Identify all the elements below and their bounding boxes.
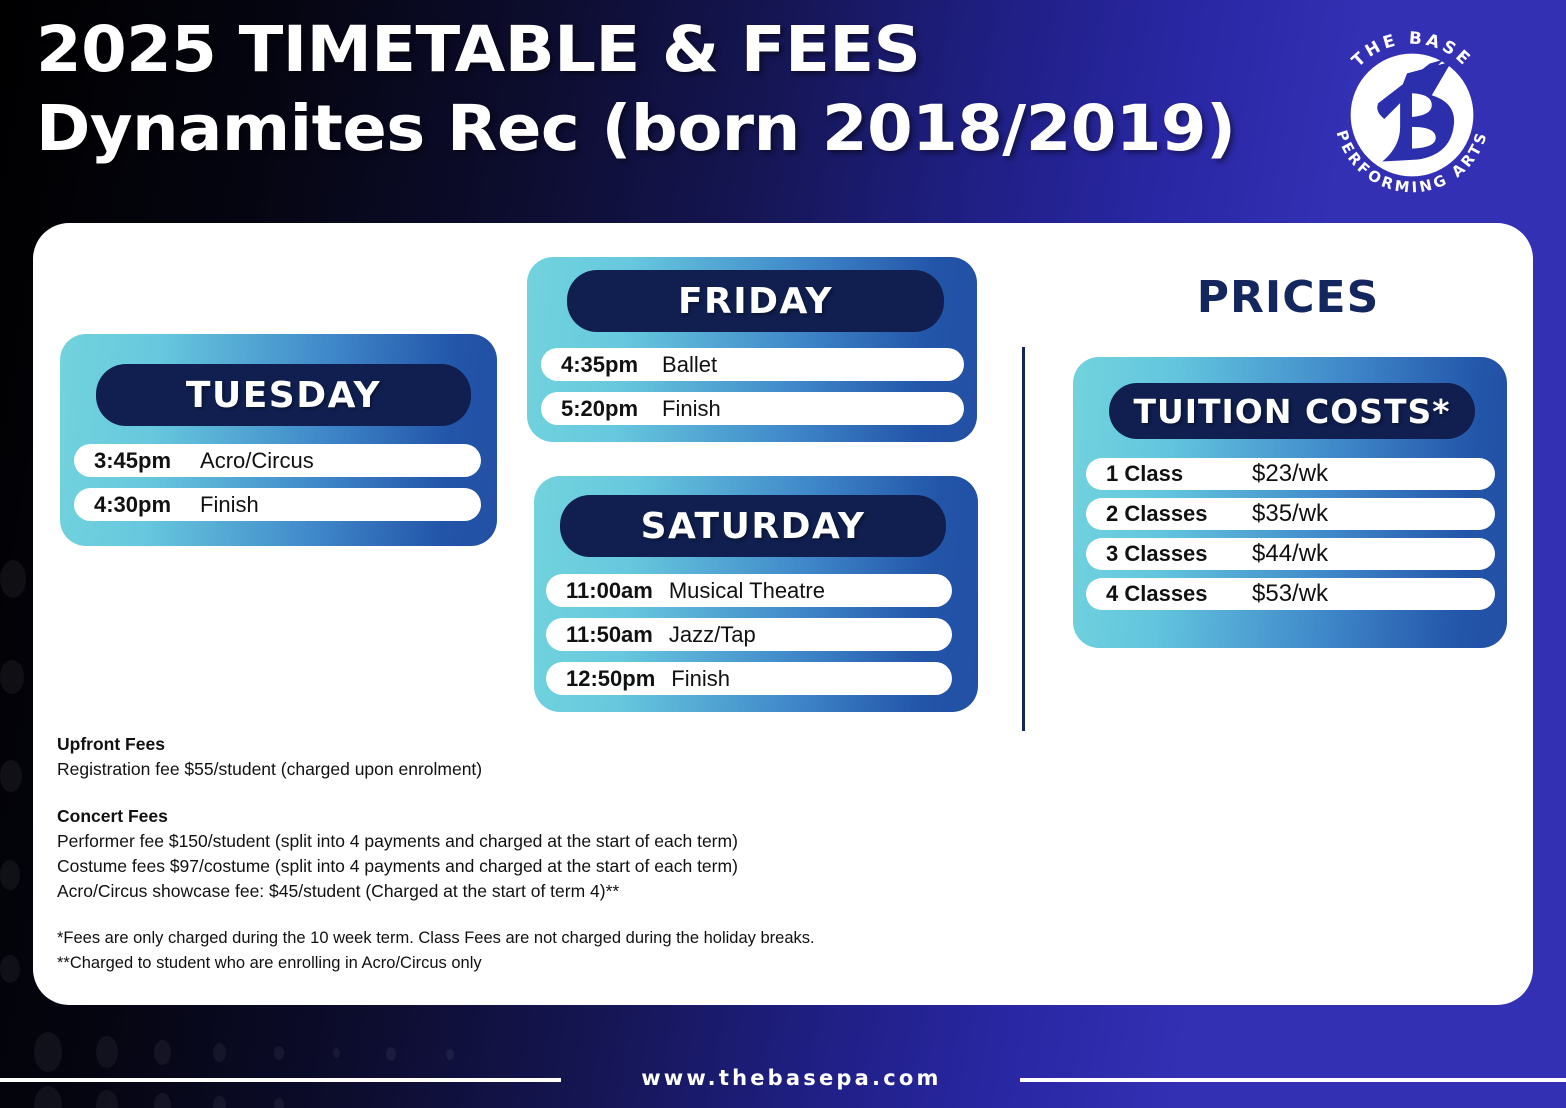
row-activity: Finish: [662, 396, 721, 422]
schedule-row: 4:30pm Finish: [74, 488, 481, 521]
tuition-price: $23/wk: [1252, 460, 1328, 488]
schedule-rows-tuesday: 3:45pm Acro/Circus 4:30pm Finish: [74, 444, 481, 521]
row-activity: Finish: [200, 492, 259, 518]
row-activity: Acro/Circus: [200, 448, 314, 474]
tuition-rows: 1 Class $23/wk 2 Classes $35/wk 3 Classe…: [1086, 458, 1495, 610]
row-activity: Ballet: [662, 352, 717, 378]
tuition-label: 4 Classes: [1106, 581, 1252, 607]
row-activity: Jazz/Tap: [669, 622, 756, 648]
schedule-rows-friday: 4:35pm Ballet 5:20pm Finish: [541, 348, 964, 425]
prices-section-title: PRICES: [1073, 272, 1503, 323]
row-time: 11:00am: [566, 578, 653, 604]
tuition-costs-card: TUITION COSTS* 1 Class $23/wk 2 Classes …: [1073, 357, 1507, 648]
row-time: 4:30pm: [94, 492, 171, 518]
footer-rule-left: [0, 1078, 561, 1082]
poster-header: 2025 TIMETABLE & FEES Dynamites Rec (bor…: [36, 18, 1436, 208]
brand-logo: THE BASE PERFORMING ARTS: [1313, 16, 1511, 214]
row-activity: Musical Theatre: [669, 578, 825, 604]
poster-footer: www.thebasepa.com: [0, 1016, 1566, 1108]
concert-fees-line-2: Costume fees $97/costume (split into 4 p…: [57, 854, 957, 879]
footnote-1: *Fees are only charged during the 10 wee…: [57, 926, 957, 951]
schedule-rows-saturday: 11:00am Musical Theatre 11:50am Jazz/Tap…: [546, 574, 952, 695]
section-divider: [1022, 347, 1025, 731]
tuition-label: 2 Classes: [1106, 501, 1252, 527]
day-card-friday: FRIDAY 4:35pm Ballet 5:20pm Finish: [527, 257, 977, 442]
tuition-costs-heading: TUITION COSTS*: [1109, 383, 1475, 439]
upfront-fees-heading: Upfront Fees: [57, 732, 957, 757]
tuition-row: 2 Classes $35/wk: [1086, 498, 1495, 530]
upfront-fees-line: Registration fee $55/student (charged up…: [57, 757, 957, 782]
row-time: 3:45pm: [94, 448, 171, 474]
row-time: 5:20pm: [561, 396, 638, 422]
tuition-label: 3 Classes: [1106, 541, 1252, 567]
page-title-line-2: Dynamites Rec (born 2018/2019): [36, 97, 1492, 160]
day-card-tuesday: TUESDAY 3:45pm Acro/Circus 4:30pm Finish: [60, 334, 497, 546]
tuition-label: 1 Class: [1106, 461, 1252, 487]
tuition-price: $35/wk: [1252, 500, 1328, 528]
concert-fees-line-1: Performer fee $150/student (split into 4…: [57, 829, 957, 854]
day-card-saturday: SATURDAY 11:00am Musical Theatre 11:50am…: [534, 476, 978, 712]
tuition-price: $44/wk: [1252, 540, 1328, 568]
schedule-row: 5:20pm Finish: [541, 392, 964, 425]
row-activity: Finish: [671, 666, 730, 692]
schedule-row: 4:35pm Ballet: [541, 348, 964, 381]
tuition-price: $53/wk: [1252, 580, 1328, 608]
day-title-tuesday: TUESDAY: [96, 364, 471, 426]
schedule-row: 11:50am Jazz/Tap: [546, 618, 952, 651]
page-title-line-1: 2025 TIMETABLE & FEES: [36, 18, 1492, 81]
schedule-row: 12:50pm Finish: [546, 662, 952, 695]
tuition-row: 1 Class $23/wk: [1086, 458, 1495, 490]
fees-details: Upfront Fees Registration fee $55/studen…: [57, 732, 957, 976]
day-title-saturday: SATURDAY: [560, 495, 946, 557]
schedule-row: 11:00am Musical Theatre: [546, 574, 952, 607]
row-time: 12:50pm: [566, 666, 655, 692]
row-time: 11:50am: [566, 622, 653, 648]
footnote-2: **Charged to student who are enrolling i…: [57, 951, 957, 976]
spacer: [57, 782, 957, 804]
concert-fees-line-3: Acro/Circus showcase fee: $45/student (C…: [57, 879, 957, 904]
row-time: 4:35pm: [561, 352, 638, 378]
schedule-row: 3:45pm Acro/Circus: [74, 444, 481, 477]
concert-fees-heading: Concert Fees: [57, 804, 957, 829]
day-title-friday: FRIDAY: [567, 270, 944, 332]
tuition-row: 4 Classes $53/wk: [1086, 578, 1495, 610]
spacer: [57, 904, 957, 926]
tuition-row: 3 Classes $44/wk: [1086, 538, 1495, 570]
footer-rule-right: [1020, 1078, 1566, 1082]
footer-website-url[interactable]: www.thebasepa.com: [641, 1066, 941, 1090]
